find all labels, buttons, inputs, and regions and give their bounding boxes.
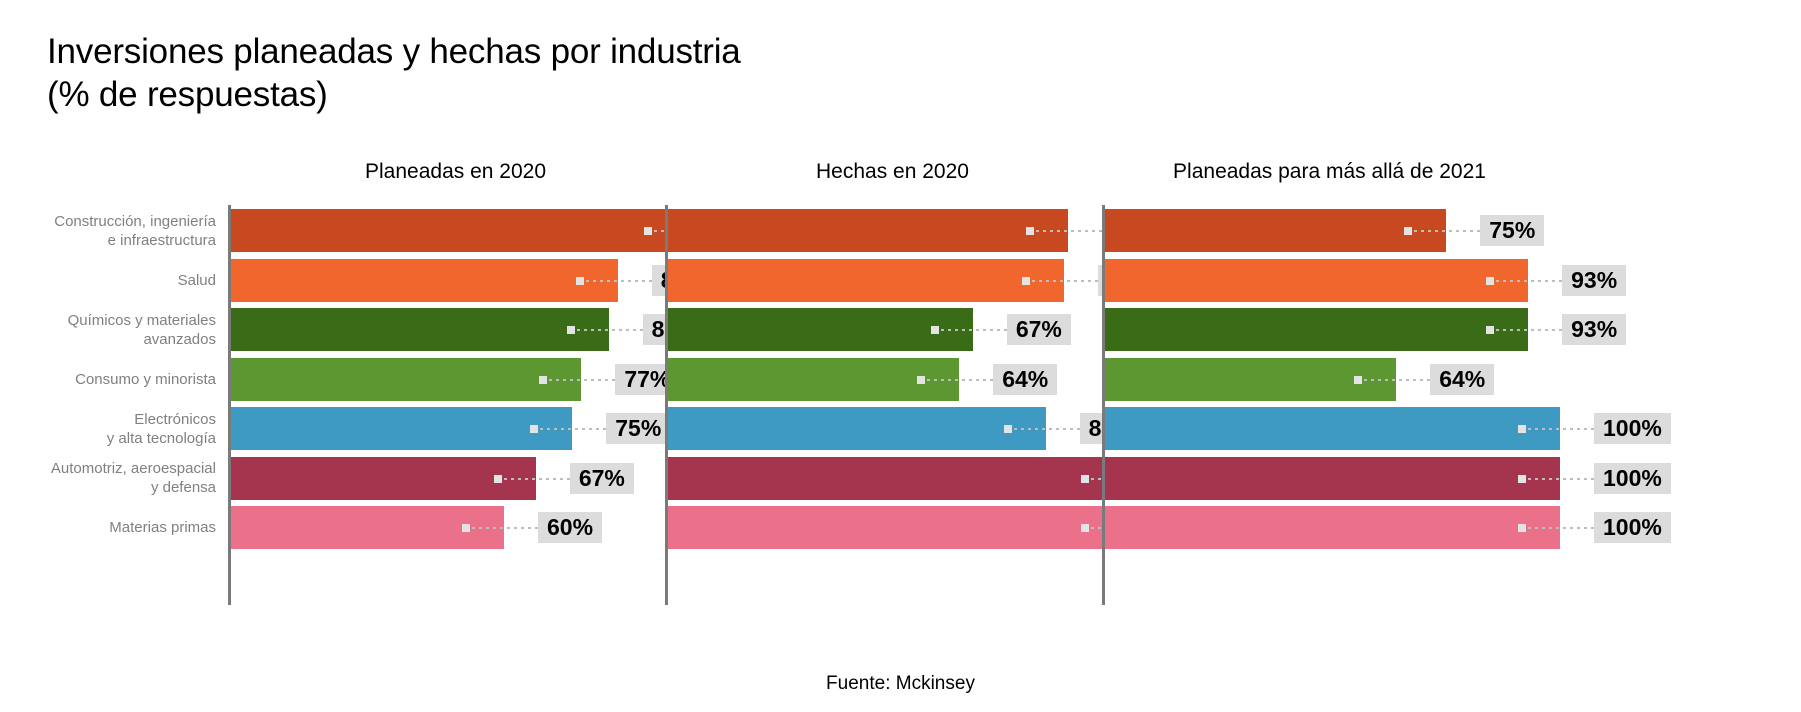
bar[interactable]: [231, 209, 686, 252]
bar-value-label: 93%: [1562, 314, 1626, 345]
bar[interactable]: [1105, 358, 1396, 401]
bar-value-label: 100%: [1594, 463, 1671, 494]
bar-value-label: 67%: [570, 463, 634, 494]
bar-value-label: 100%: [1594, 413, 1671, 444]
bar-row: 100%: [1105, 407, 1787, 450]
page-title-line-1: Inversiones planeadas y hechas por indus…: [47, 30, 1247, 73]
bar-end-marker-icon: [462, 524, 470, 532]
leader-line: [504, 478, 570, 480]
bar[interactable]: [668, 358, 959, 401]
leader-line: [927, 379, 993, 381]
panel-plot-area: 75%93%93%64%100%100%100%: [1102, 205, 1787, 605]
bar[interactable]: [668, 407, 1046, 450]
source-note: Fuente: Mckinsey: [0, 673, 1801, 695]
leader-line: [549, 379, 615, 381]
bar[interactable]: [1105, 506, 1560, 549]
leader-line: [540, 428, 606, 430]
bar-end-marker-icon: [931, 326, 939, 334]
bar-value-label: 75%: [1480, 215, 1544, 246]
bar-end-marker-icon: [917, 376, 925, 384]
source-text: Fuente: Mckinsey: [826, 673, 975, 695]
bar[interactable]: [668, 209, 1068, 252]
bar-end-marker-icon: [1081, 475, 1089, 483]
leader-line: [472, 527, 538, 529]
leader-line: [577, 329, 643, 331]
bar-end-marker-icon: [494, 475, 502, 483]
bar-end-marker-icon: [1486, 277, 1494, 285]
bar[interactable]: [231, 457, 536, 500]
bar-value-label: 60%: [538, 512, 602, 543]
bar-end-marker-icon: [530, 425, 538, 433]
bar-end-marker-icon: [539, 376, 547, 384]
bar-row: 93%: [1105, 259, 1787, 302]
panel-title: Hechas en 2020: [665, 160, 1120, 184]
bar-row: 100%: [1105, 457, 1787, 500]
leader-line: [1528, 527, 1594, 529]
bar[interactable]: [668, 259, 1064, 302]
bar[interactable]: [231, 259, 618, 302]
leader-line: [1496, 329, 1562, 331]
bar-value-label: 64%: [1430, 364, 1494, 395]
grouped-bar-chart: Planeadas en 2020100%85%83%77%75%67%60%H…: [0, 160, 1801, 650]
bar-end-marker-icon: [1404, 227, 1412, 235]
bar[interactable]: [1105, 407, 1560, 450]
panel-title: Planeadas para más allá de 2021: [1102, 160, 1557, 184]
bar[interactable]: [668, 506, 1123, 549]
leader-line: [941, 329, 1007, 331]
leader-line: [1364, 379, 1430, 381]
bar[interactable]: [231, 358, 581, 401]
leader-line: [1032, 280, 1098, 282]
bar-end-marker-icon: [1518, 524, 1526, 532]
bar[interactable]: [668, 457, 1123, 500]
bar-end-marker-icon: [1354, 376, 1362, 384]
bar[interactable]: [668, 308, 973, 351]
bar-end-marker-icon: [1022, 277, 1030, 285]
bar-end-marker-icon: [1081, 524, 1089, 532]
bar-end-marker-icon: [1518, 475, 1526, 483]
bar-row: 64%: [1105, 358, 1787, 401]
bar-end-marker-icon: [644, 227, 652, 235]
leader-line: [1014, 428, 1080, 430]
leader-line: [1414, 230, 1480, 232]
bar[interactable]: [1105, 209, 1446, 252]
page-title-line-2: (% de respuestas): [47, 73, 1247, 116]
bar[interactable]: [1105, 457, 1560, 500]
bar-row: 93%: [1105, 308, 1787, 351]
bar-value-label: 75%: [606, 413, 670, 444]
leader-line: [1528, 428, 1594, 430]
bar-row: 100%: [1105, 506, 1787, 549]
bar-value-label: 67%: [1007, 314, 1071, 345]
bar-end-marker-icon: [567, 326, 575, 334]
leader-line: [1036, 230, 1102, 232]
bar-end-marker-icon: [1026, 227, 1034, 235]
chart-panel-3: Planeadas para más allá de 202175%93%93%…: [1102, 160, 1787, 650]
leader-line: [586, 280, 652, 282]
bar[interactable]: [1105, 308, 1528, 351]
bar-value-label: 93%: [1562, 265, 1626, 296]
leader-line: [1528, 478, 1594, 480]
bar-end-marker-icon: [1004, 425, 1012, 433]
leader-line: [1496, 280, 1562, 282]
bar-end-marker-icon: [1486, 326, 1494, 334]
page-title: Inversiones planeadas y hechas por indus…: [47, 30, 1247, 116]
bar[interactable]: [231, 308, 609, 351]
bar-value-label: 100%: [1594, 512, 1671, 543]
bar-end-marker-icon: [576, 277, 584, 285]
bar[interactable]: [231, 407, 572, 450]
bar[interactable]: [1105, 259, 1528, 302]
bar-end-marker-icon: [1518, 425, 1526, 433]
bar-value-label: 64%: [993, 364, 1057, 395]
panel-title: Planeadas en 2020: [228, 160, 683, 184]
bar-row: 75%: [1105, 209, 1787, 252]
